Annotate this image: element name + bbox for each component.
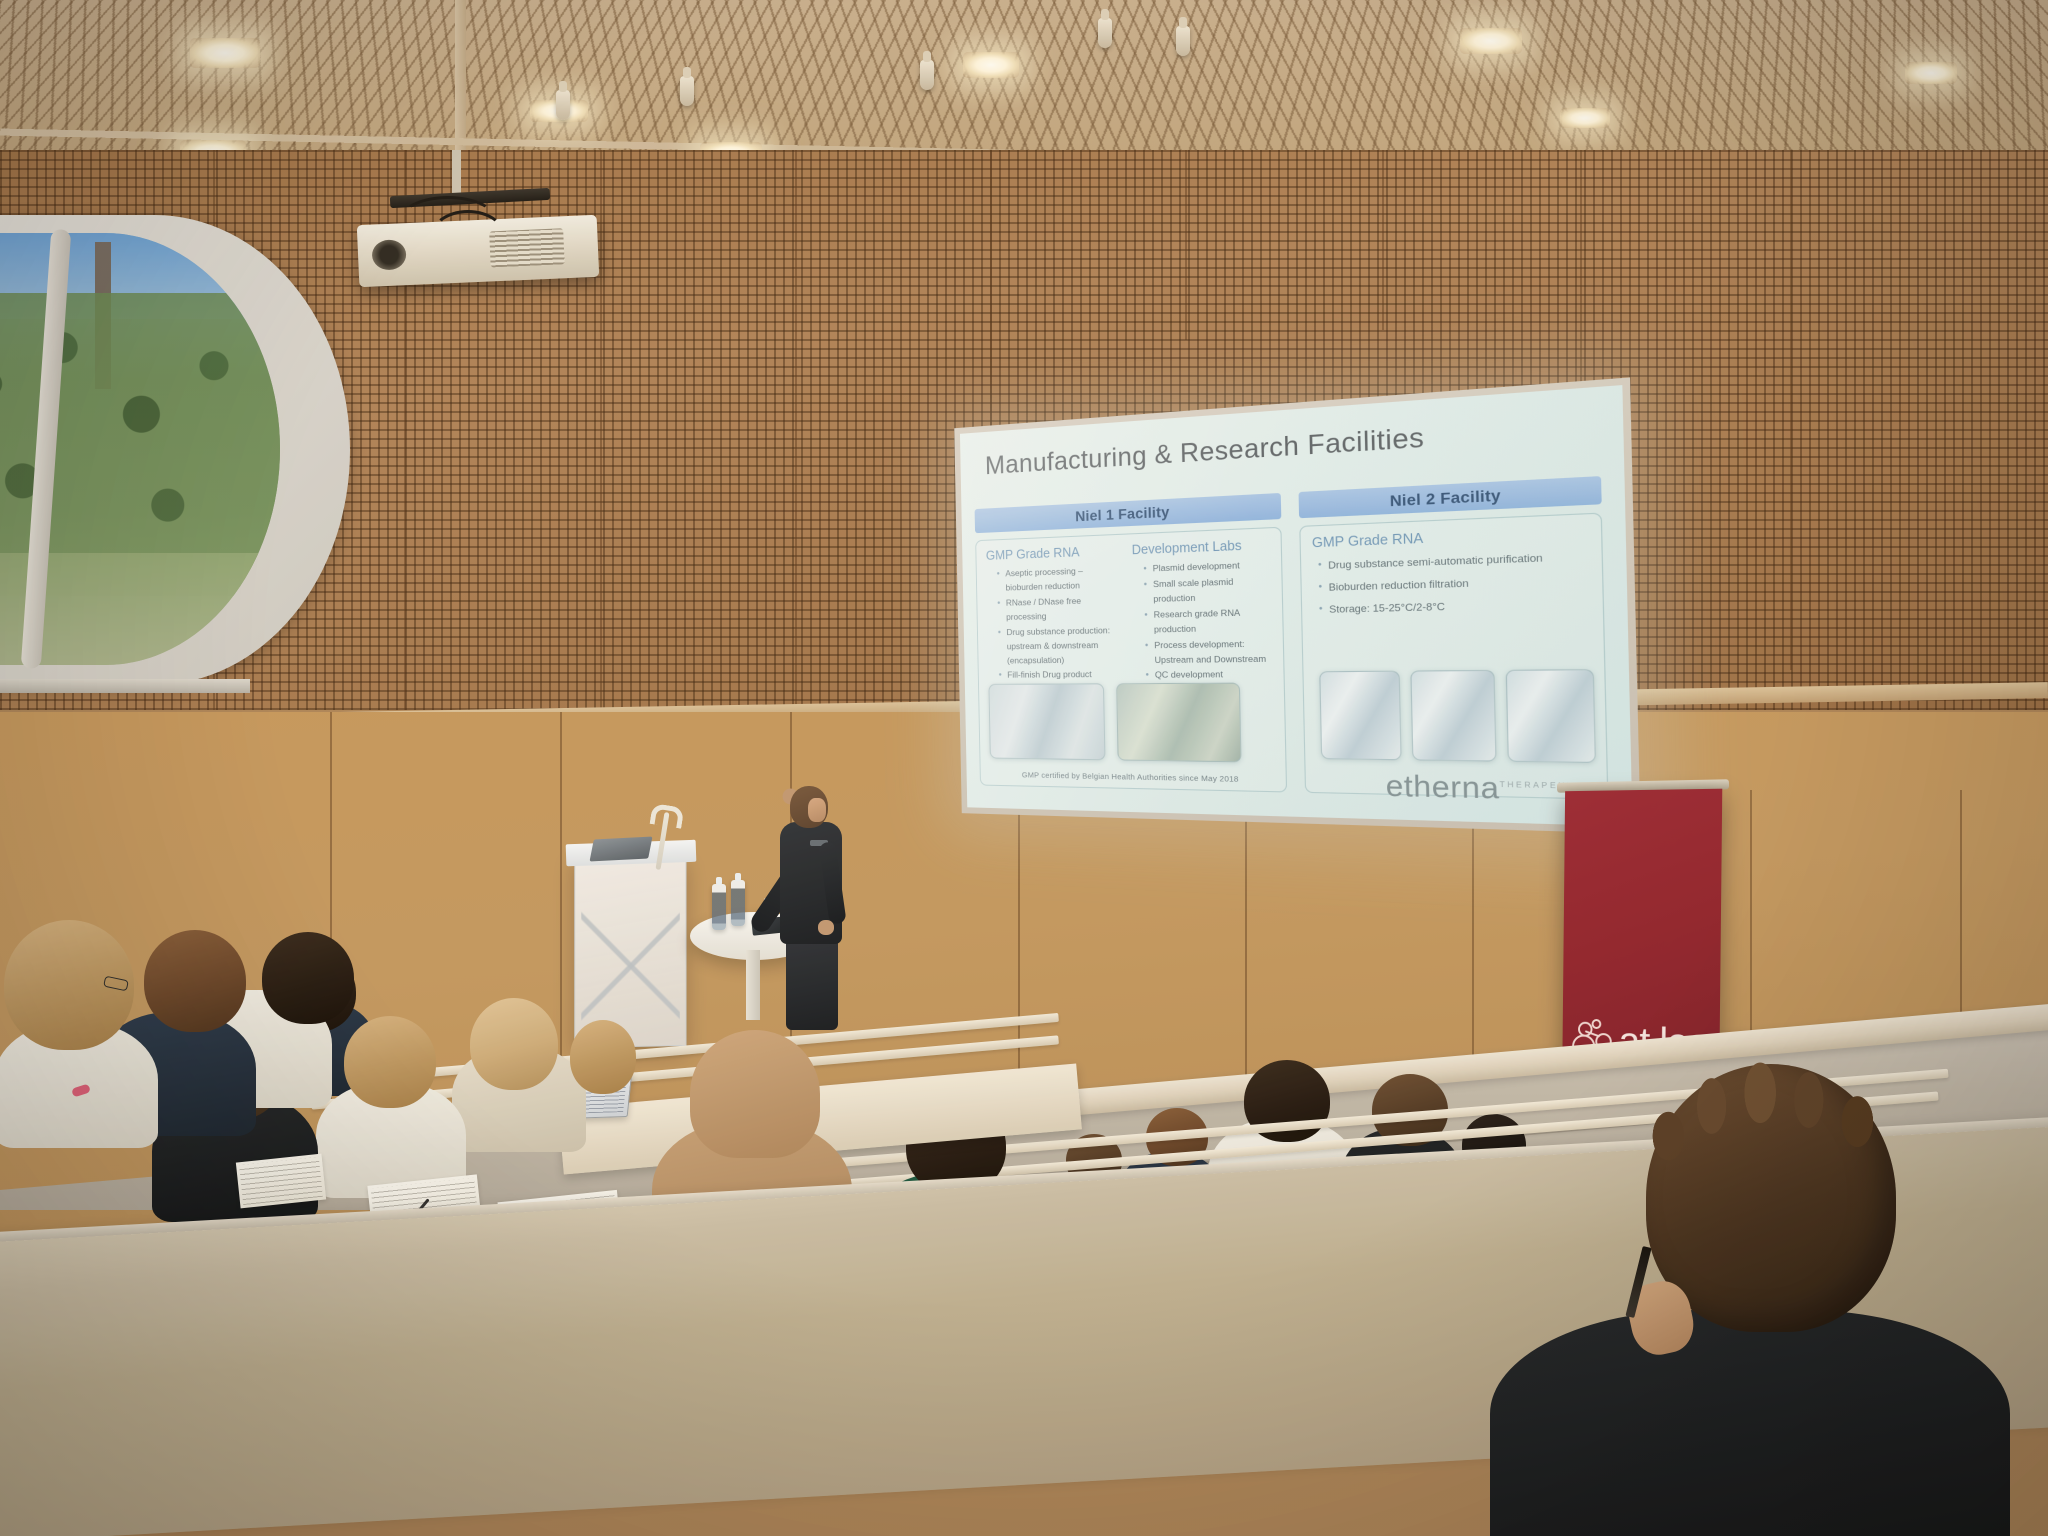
foreground-student-body [1490,1310,2010,1536]
bullet-item: Aseptic processing – bioburden reduction [998,563,1119,596]
lectern-cross-brace [581,895,679,1036]
ceiling-light-6 [1460,28,1522,54]
wall-seam [990,150,992,440]
audience-head [344,1016,436,1108]
wall-seam [1382,150,1384,330]
facility-footnote: GMP certified by Belgian Health Authorit… [981,769,1286,784]
wall-seam [1185,150,1187,340]
wall-seam-lower [1472,795,1474,1075]
paper-ruled-lines [239,1157,323,1205]
ceiling-light-2 [963,52,1019,78]
equipment-rack-photo [1319,671,1401,761]
bullet-item: Drug substance production: upstream & do… [999,623,1120,668]
water-bottle[interactable] [712,884,726,930]
projection-screen: Manufacturing & Research Facilities Niel… [954,377,1640,833]
projector-lens-icon [371,239,406,270]
presenter-face [808,798,826,822]
projector-mount-pole [452,150,461,196]
wall-seam [1790,150,1792,670]
ceiling-light-8 [1905,62,1957,84]
facility-body-niel-1: GMP Grade RNA Aseptic processing – biobu… [975,527,1287,793]
track-spotlight-3 [920,60,934,90]
audience-head [470,998,558,1090]
wall-seam-lower [1018,800,1020,1100]
lectern[interactable] [574,854,686,1048]
curved-window [0,215,350,685]
track-spotlight-5 [1176,26,1190,56]
ceiling-light-7 [1560,108,1610,128]
audience-head-hijab [690,1030,820,1158]
section-heading-development-labs: Development Labs [1132,537,1270,557]
lab-personnel-gowned-photo [1116,683,1241,763]
wall-seam-lower [1245,800,1247,1090]
facility-photos-niel-1 [988,683,1241,763]
etherna-wordmark: etherna [1385,769,1500,805]
facility-body-niel-2: GMP Grade RNA Drug substance semi-automa… [1299,512,1608,799]
facility-photos-niel-2 [1319,669,1596,763]
track-spotlight-1 [556,90,570,120]
bullet-list-gmp-2: Drug substance semi-automatic purificati… [1312,546,1590,620]
track-spotlight-4 [1098,18,1112,48]
window-sill [0,679,250,693]
audience-head [144,930,246,1032]
ceiling-light-1 [190,38,260,68]
audience-head [262,932,354,1024]
bullet-list-dev-labs: Plasmid development Small scale plasmid … [1132,558,1273,684]
track-spotlight-2 [680,76,694,106]
cleanroom-bench-photo [1410,670,1496,762]
bullet-item: Fill-finish Drug product [1000,668,1121,683]
lectern-laptop[interactable] [589,836,652,861]
presenter-legs [786,938,838,1030]
presentation-slide: Manufacturing & Research Facilities Niel… [960,385,1633,826]
section-heading-gmp-grade-rna-1: GMP Grade RNA [986,543,1118,563]
facility-header-niel-2: Niel 2 Facility [1299,476,1602,518]
facility-card-niel-1: Niel 1 Facility GMP Grade RNA Aseptic pr… [975,493,1288,793]
wall-seam [600,150,602,710]
cleanroom-corridor-photo [988,683,1105,760]
bullet-item: RNase / DNase free processing [998,593,1119,625]
wall-seam [795,150,797,710]
notebook-paper[interactable] [236,1154,326,1209]
presenter [756,786,848,1026]
lecture-hall-scene: Manufacturing & Research Facilities Niel… [0,0,2048,1536]
projector-cable [430,210,506,264]
water-bottle[interactable] [731,880,745,926]
bullet-item: QC development [1146,668,1272,684]
bullet-item: Research grade RNA production [1145,605,1271,637]
bullet-item: Process development: Upstream and Downst… [1146,636,1272,667]
presenter-hand [818,920,834,935]
cleanroom-airlock-photo [1506,669,1596,763]
bullet-item: Small scale plasmid production [1145,574,1271,607]
wall-seam-lower [560,712,562,1112]
audience-head [570,1020,636,1094]
facility-card-niel-2: Niel 2 Facility GMP Grade RNA Drug subst… [1299,476,1609,800]
slide-title: Manufacturing & Research Facilities [985,422,1425,481]
foreground-student-hair-spikes [1636,1052,1906,1172]
facility-header-niel-1: Niel 1 Facility [975,493,1282,533]
